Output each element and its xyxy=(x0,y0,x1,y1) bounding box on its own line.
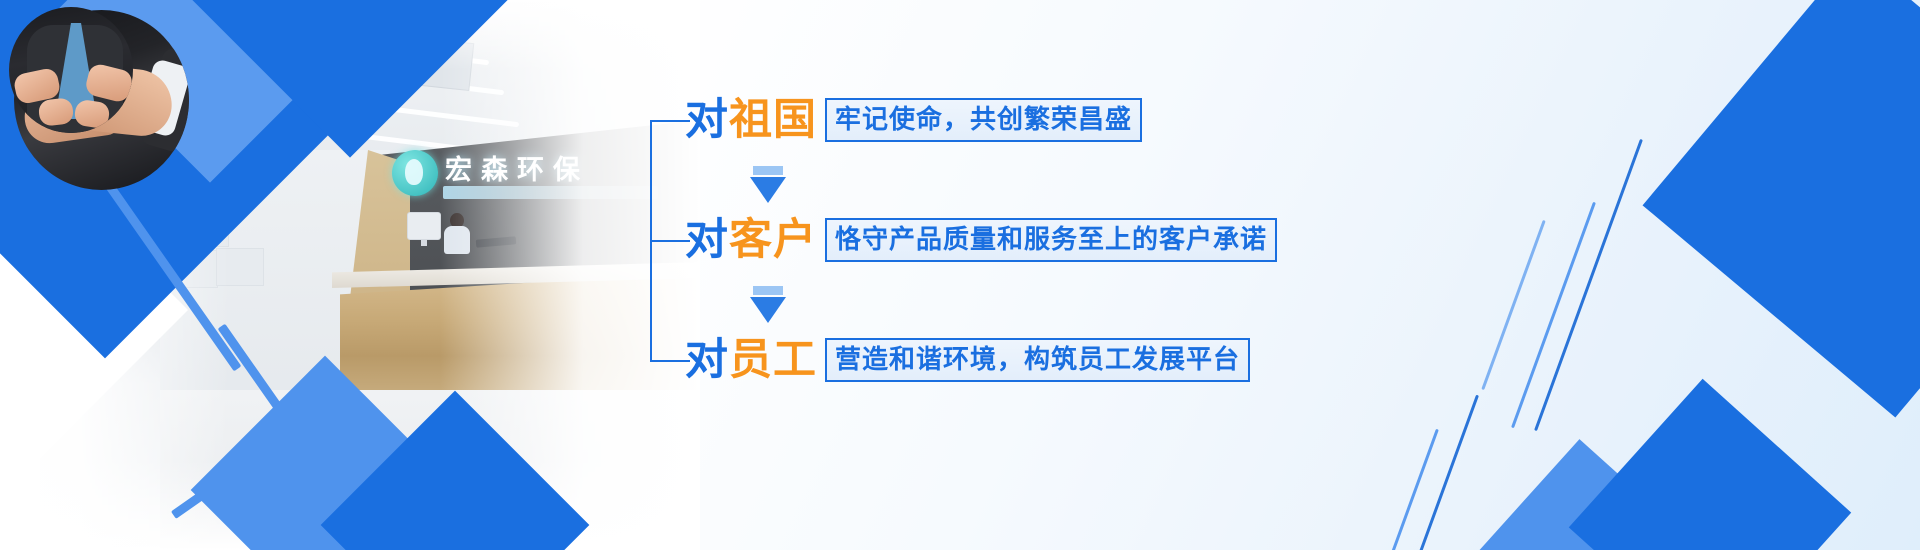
value-row-country: 对 祖国 牢记使命，共创繁荣昌盛 xyxy=(685,92,1142,148)
value-row-customer: 对 客户 恪守产品质量和服务至上的客户承诺 xyxy=(685,212,1277,268)
row-prefix-country: 对 xyxy=(685,99,729,142)
row-prefix-employee: 对 xyxy=(685,339,729,382)
bracket-connector-middle xyxy=(650,240,690,242)
arrow-triangle-1 xyxy=(750,177,786,203)
decor-line-2 xyxy=(1511,202,1596,429)
decor-line-5 xyxy=(1388,429,1439,550)
globe-leaf-logo-icon xyxy=(392,150,438,196)
arrow-down-icon-2 xyxy=(750,286,786,323)
decor-polygon-right-1 xyxy=(1643,0,1920,417)
row-subject-country: 祖国 xyxy=(729,99,817,142)
bracket-connector-top xyxy=(650,120,690,122)
row-statement-employee: 营造和谐环境，构筑员工发展平台 xyxy=(825,338,1250,383)
arrow-cap-2 xyxy=(753,286,783,295)
corporate-values-banner: 宏森环保 xyxy=(0,0,1920,550)
desk-monitor xyxy=(407,212,441,240)
decor-line-1 xyxy=(1534,139,1643,431)
decor-polygon-right-2 xyxy=(1569,379,1851,550)
arrow-down-icon-1 xyxy=(750,166,786,203)
value-row-employee: 对 员工 营造和谐环境，构筑员工发展平台 xyxy=(685,332,1250,388)
row-prefix-customer: 对 xyxy=(685,219,729,262)
row-subject-employee: 员工 xyxy=(729,339,817,382)
row-subject-customer: 客户 xyxy=(729,219,817,262)
decor-line-4 xyxy=(1418,395,1479,550)
applause-photo xyxy=(9,7,133,133)
arrow-cap-1 xyxy=(753,166,783,175)
arrow-triangle-2 xyxy=(750,297,786,323)
bracket-connector-bottom xyxy=(650,360,690,362)
values-content: 对 祖国 牢记使命，共创繁荣昌盛 对 客户 恪守产品质量和服务至上的客户承诺 对… xyxy=(650,78,1350,398)
row-statement-country: 牢记使命，共创繁荣昌盛 xyxy=(825,98,1142,143)
row-statement-customer: 恪守产品质量和服务至上的客户承诺 xyxy=(825,218,1277,263)
